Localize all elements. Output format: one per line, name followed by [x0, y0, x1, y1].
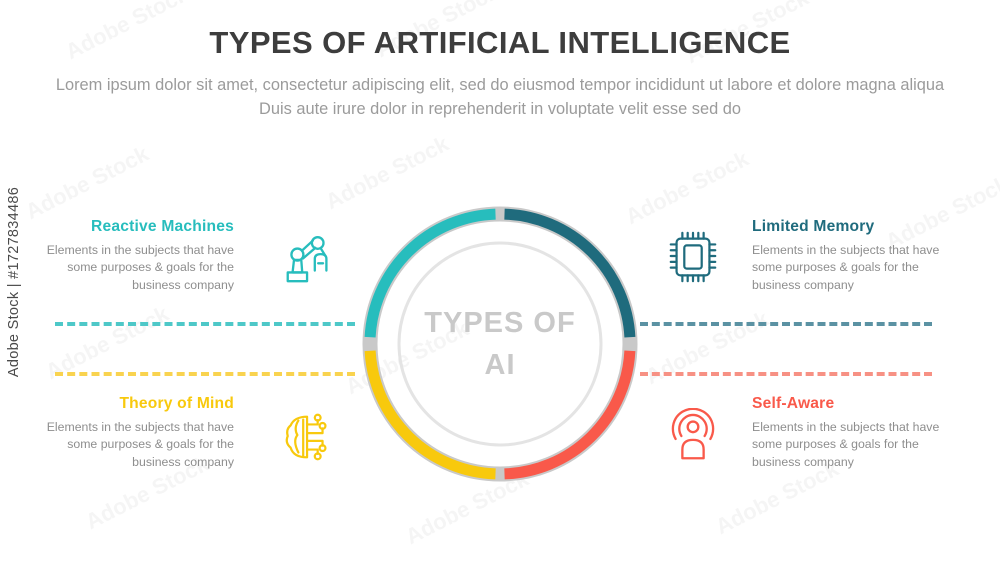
item-block-self-aware: Self-Aware Elements in the subjects that…	[752, 395, 944, 471]
item-description-reactive-machines: Elements in the subjects that have some …	[42, 242, 234, 294]
watermark-tile: Adobe Stock	[641, 306, 773, 390]
connector-line-limited	[640, 322, 932, 326]
item-title-theory-of-mind: Theory of Mind	[42, 395, 234, 413]
donut-chart: TYPES OF AI	[352, 196, 648, 492]
connector-line-theory	[55, 372, 355, 376]
connector-line-reactive	[55, 322, 355, 326]
donut-center-label: TYPES OF AI	[352, 196, 648, 492]
microchip-icon	[662, 228, 724, 286]
infographic-canvas: Adobe Stock Adobe Stock Adobe Stock Adob…	[0, 0, 1000, 563]
item-title-self-aware: Self-Aware	[752, 395, 944, 413]
item-description-limited-memory: Elements in the subjects that have some …	[752, 242, 944, 294]
item-block-reactive-machines: Reactive Machines Elements in the subjec…	[42, 218, 234, 294]
watermark-sidebar: Adobe Stock | #1727834486	[2, 0, 26, 563]
item-title-reactive-machines: Reactive Machines	[42, 218, 234, 236]
page-subtitle: Lorem ipsum dolor sit amet, consectetur …	[45, 74, 955, 122]
watermark-tile: Adobe Stock	[21, 141, 153, 225]
donut-center-line-2: AI	[485, 344, 516, 386]
item-title-limited-memory: Limited Memory	[752, 218, 944, 236]
item-block-theory-of-mind: Theory of Mind Elements in the subjects …	[42, 395, 234, 471]
connector-line-self	[640, 372, 932, 376]
item-description-theory-of-mind: Elements in the subjects that have some …	[42, 419, 234, 471]
item-description-self-aware: Elements in the subjects that have some …	[752, 419, 944, 471]
donut-center-line-1: TYPES OF	[424, 302, 575, 344]
header: TYPES OF ARTIFICIAL INTELLIGENCE Lorem i…	[0, 26, 1000, 122]
item-block-limited-memory: Limited Memory Elements in the subjects …	[752, 218, 944, 294]
signal-person-icon	[662, 408, 724, 466]
page-title: TYPES OF ARTIFICIAL INTELLIGENCE	[0, 26, 1000, 60]
watermark-sidebar-text: Adobe Stock | #1727834486	[6, 186, 22, 376]
brain-circuit-icon	[278, 408, 340, 466]
robot-arm-icon	[278, 228, 340, 286]
